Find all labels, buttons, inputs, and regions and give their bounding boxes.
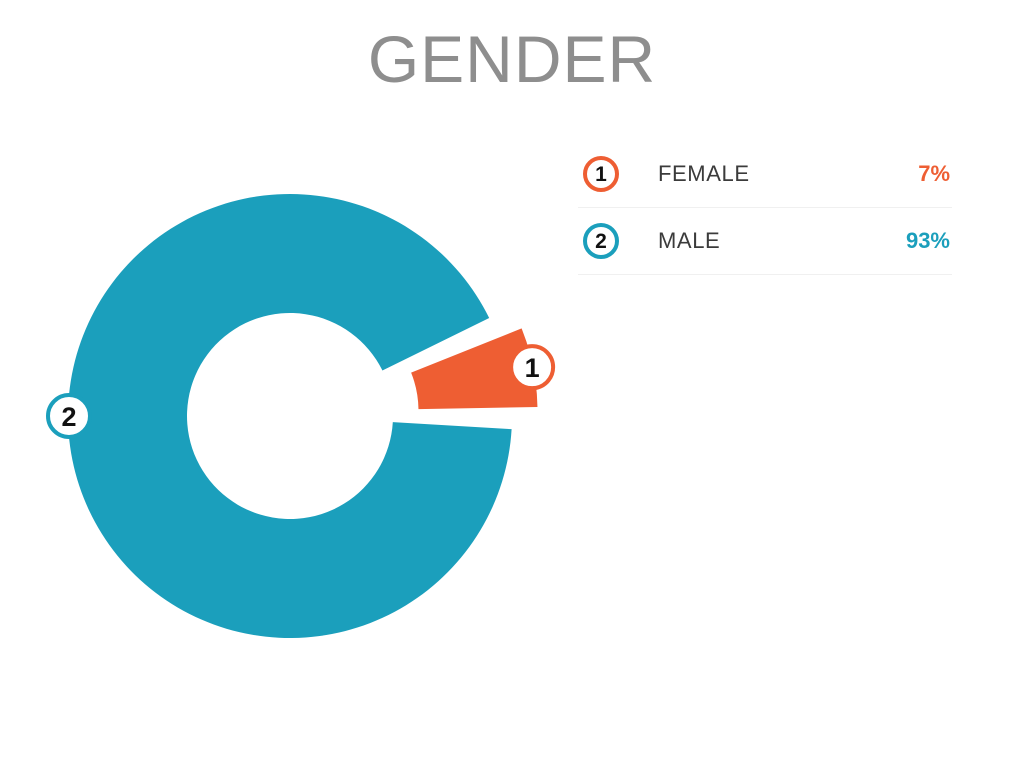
donut-chart-svg: 12 xyxy=(0,130,580,730)
donut-callout-2[interactable]: 2 xyxy=(48,395,90,437)
donut-slice-male[interactable] xyxy=(68,194,512,638)
donut-slices xyxy=(68,194,537,638)
page-title: GENDER xyxy=(0,26,1024,92)
legend-label-male: MALE xyxy=(658,228,906,254)
legend-badge-1: 1 xyxy=(583,156,619,192)
callout-label-1: 1 xyxy=(525,353,540,383)
legend-badge-2: 2 xyxy=(583,223,619,259)
donut-chart: 12 xyxy=(0,130,580,730)
legend-value-female: 7% xyxy=(918,161,950,187)
legend-row-male[interactable]: 2 MALE 93% xyxy=(578,208,952,275)
legend-row-female[interactable]: 1 FEMALE 7% xyxy=(578,140,952,208)
legend-value-male: 93% xyxy=(906,228,950,254)
slide-canvas: GENDER 12 1 FEMALE 7% 2 MALE 93% xyxy=(0,0,1024,768)
callout-label-2: 2 xyxy=(61,402,76,432)
legend: 1 FEMALE 7% 2 MALE 93% xyxy=(578,140,952,275)
legend-label-female: FEMALE xyxy=(658,161,918,187)
donut-callout-1[interactable]: 1 xyxy=(511,346,553,388)
